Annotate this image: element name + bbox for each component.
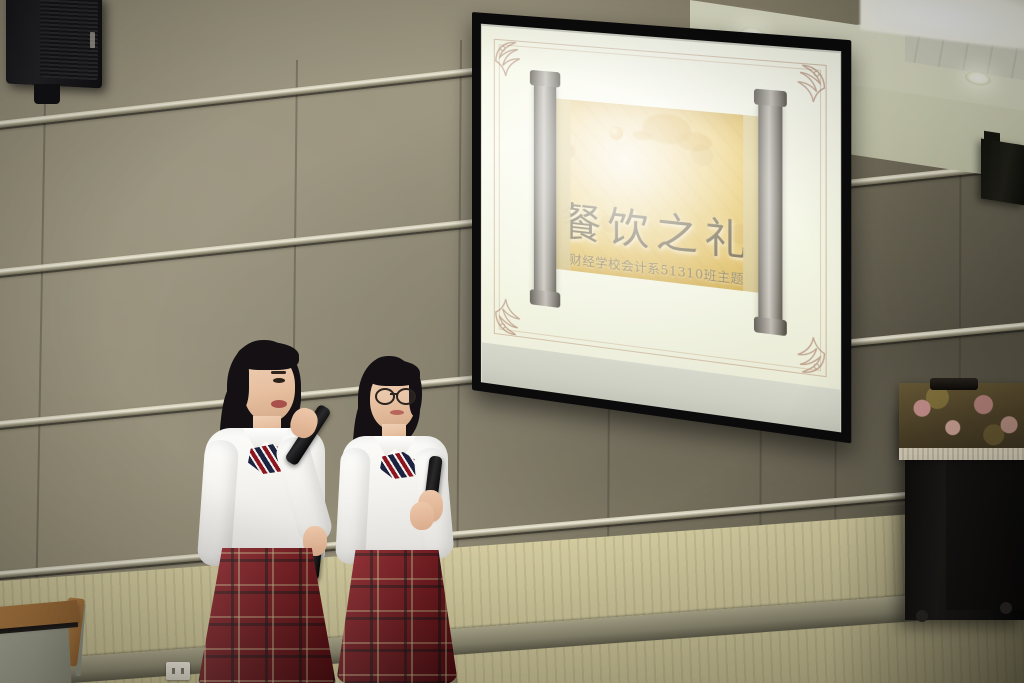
object-on-piano	[930, 378, 978, 390]
piano-caster	[1000, 602, 1012, 614]
power-outlet	[166, 662, 190, 680]
piano-cover-fringe	[899, 448, 1024, 460]
eyebrow	[271, 371, 286, 374]
eyeglasses-icon	[375, 388, 395, 405]
slide-corner-ornament-icon	[782, 329, 826, 377]
hand	[410, 502, 434, 530]
skirt-shadow	[336, 550, 458, 683]
scroll-paper: 餐饮之礼 南京财经学校会计系51310班主题班会	[542, 97, 774, 294]
lips	[271, 400, 287, 408]
slide-corner-ornament-icon	[494, 39, 534, 83]
wall-speaker-right	[981, 139, 1024, 206]
presenter-left	[195, 336, 350, 683]
photo-scene: 餐饮之礼 南京财经学校会计系51310班主题班会	[0, 0, 1024, 683]
eyeglasses-icon	[396, 388, 416, 405]
piano-caster	[916, 610, 928, 622]
speaker-badge	[90, 32, 95, 48]
slide-corner-ornament-icon	[494, 294, 534, 339]
scroll-rod-cap	[530, 70, 560, 88]
hair-side	[235, 358, 249, 408]
flaming-pearl-icon	[610, 126, 624, 141]
piano-floral-cover	[899, 383, 1024, 455]
projection-screen: 餐饮之礼 南京财经学校会计系51310班主题班会	[472, 12, 851, 443]
scroll-rod-right	[758, 102, 782, 323]
eyeglasses-bridge	[390, 393, 397, 395]
speaker-mount-bracket	[34, 84, 60, 104]
scroll-rod-left	[534, 82, 556, 295]
wall-speaker-left	[6, 0, 102, 89]
chinese-scroll-graphic: 餐饮之礼 南京财经学校会计系51310班主题班会	[516, 85, 802, 321]
golden-dragon-icon	[623, 98, 721, 167]
outlet-slot	[181, 668, 184, 674]
outlet-slot	[172, 668, 175, 674]
screen-surface: 餐饮之礼 南京财经学校会计系51310班主题班会	[481, 24, 841, 433]
desk-body	[0, 626, 71, 683]
slide-corner-ornament-icon	[782, 61, 826, 107]
piano-front-panel	[946, 450, 1024, 610]
eye	[273, 378, 285, 383]
presentation-slide: 餐饮之礼 南京财经学校会计系51310班主题班会	[482, 26, 840, 392]
scroll-rod-cap	[754, 89, 787, 108]
lips	[390, 410, 404, 415]
